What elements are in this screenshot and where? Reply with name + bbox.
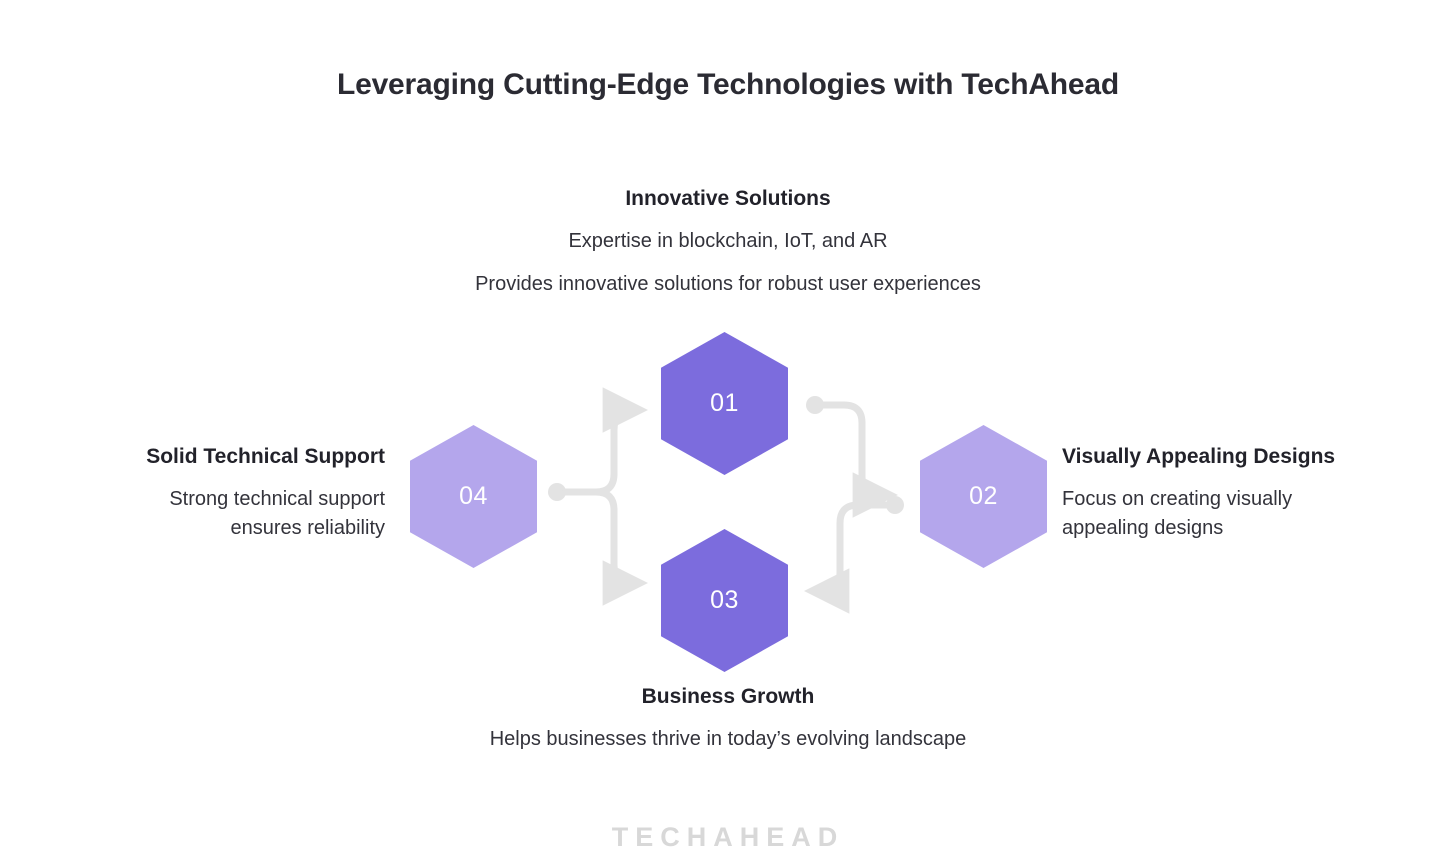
node-heading-03: Business Growth: [0, 684, 1456, 709]
connector-01-to-02: [806, 396, 889, 495]
node-description-03-line1: Helps businesses thrive in today’s evolv…: [0, 725, 1456, 753]
hexagon-label-04: 04: [459, 484, 488, 509]
node-text-block-03: Business Growth Helps businesses thrive …: [0, 684, 1456, 754]
hexagon-node-02[interactable]: 02: [920, 425, 1047, 568]
node-description-04-line1: Strong technical support: [20, 485, 385, 513]
hexagon-node-04[interactable]: 04: [410, 425, 537, 568]
hexagon-label-01: 01: [710, 391, 739, 416]
page-title: Leveraging Cutting-Edge Technologies wit…: [0, 68, 1456, 102]
node-text-block-01: Innovative Solutions Expertise in blockc…: [0, 186, 1456, 312]
node-description-02-line2: appealing designs: [1062, 514, 1456, 542]
hexagon-label-02: 02: [969, 484, 998, 509]
node-text-block-02: Visually Appealing Designs Focus on crea…: [1062, 444, 1456, 542]
node-text-block-04: Solid Technical Support Strong technical…: [20, 444, 385, 542]
node-description-01-line1: Expertise in blockchain, IoT, and AR: [0, 227, 1456, 255]
node-description-02-line1: Focus on creating visually: [1062, 485, 1456, 513]
hexagon-node-01[interactable]: 01: [661, 332, 788, 475]
node-heading-01: Innovative Solutions: [0, 186, 1456, 211]
node-description-04-line2: ensures reliability: [20, 514, 385, 542]
brand-watermark: TECHAHEAD: [0, 822, 1456, 853]
hexagon-label-03: 03: [710, 588, 739, 613]
infographic-canvas: Leveraging Cutting-Edge Technologies wit…: [0, 0, 1456, 866]
node-description-01-line2: Provides innovative solutions for robust…: [0, 270, 1456, 298]
node-heading-04: Solid Technical Support: [20, 444, 385, 469]
hexagon-node-03[interactable]: 03: [661, 529, 788, 672]
connector-02-to-03: [813, 496, 904, 591]
node-heading-02: Visually Appealing Designs: [1062, 444, 1456, 469]
connector-left-branch: [548, 410, 639, 583]
